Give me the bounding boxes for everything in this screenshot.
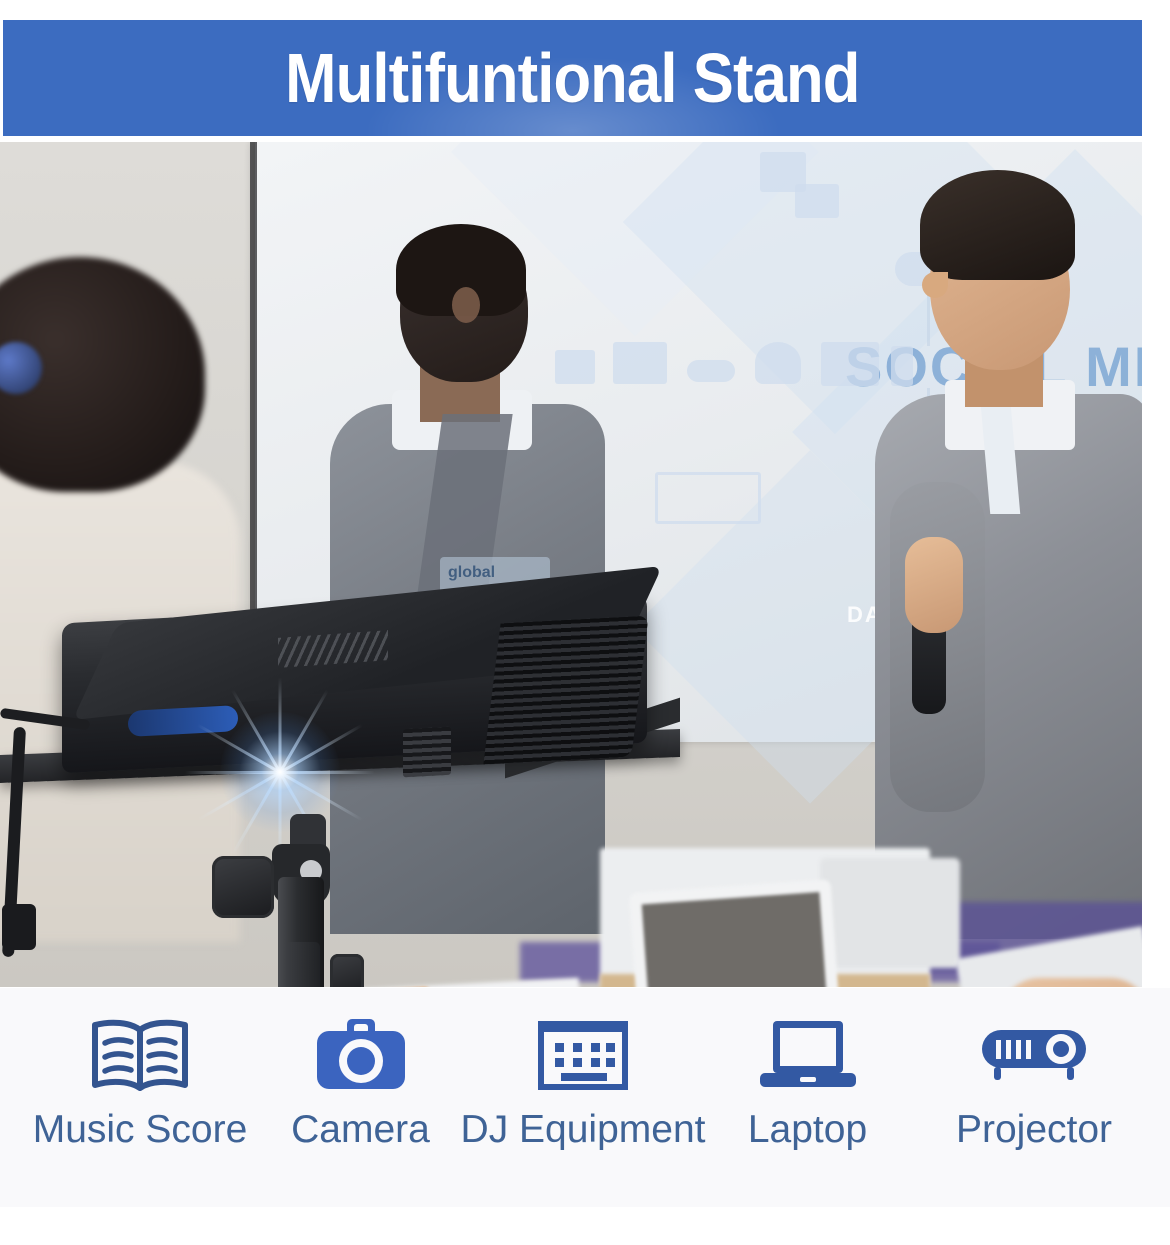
- product-image: Multifuntional Stand SOCIAL MED: [0, 0, 1170, 1245]
- feature-label: Camera: [291, 1110, 430, 1149]
- feature-music-score: Music Score: [40, 1016, 240, 1149]
- slide-icon-mail: [795, 184, 839, 218]
- cable-clip: [2, 904, 36, 950]
- feature-label: Projector: [956, 1110, 1112, 1149]
- header-banner: Multifuntional Stand: [3, 20, 1142, 136]
- product-photo: SOCIAL MED DATA SPEED: [0, 142, 1142, 987]
- slide-icon-user: [755, 342, 801, 384]
- slide-icon-display: [821, 342, 879, 386]
- camera-icon: [313, 1016, 409, 1094]
- feature-label: DJ Equipment: [461, 1110, 706, 1149]
- feature-label: Laptop: [748, 1110, 867, 1149]
- slide-icon-monitor: [613, 342, 667, 384]
- slide-icon-keyboard: [687, 360, 735, 382]
- slide-icon-frame: [655, 472, 761, 524]
- adjustment-knob: [330, 954, 364, 987]
- badge-text: global: [448, 564, 495, 582]
- projector-vent: [483, 616, 648, 765]
- feature-laptop: Laptop: [708, 1016, 908, 1149]
- printer: [820, 858, 960, 968]
- feature-dj-equipment: DJ Equipment: [483, 1016, 683, 1149]
- projector-icon: [978, 1016, 1090, 1094]
- slide-icon-device: [555, 350, 595, 384]
- page-title: Multifuntional Stand: [285, 43, 859, 113]
- laptop: [629, 879, 845, 987]
- projector-vent: [403, 727, 451, 778]
- feature-camera: Camera: [261, 1016, 461, 1149]
- feature-label: Music Score: [33, 1110, 248, 1149]
- feature-strip: Music Score Camera: [0, 988, 1170, 1207]
- slide-icon-phone: [891, 346, 913, 386]
- laptop-icon: [756, 1016, 860, 1094]
- dj-equipment-icon: [533, 1016, 633, 1094]
- feature-projector: Projector: [934, 1016, 1134, 1149]
- music-score-icon: [87, 1016, 193, 1094]
- adjustment-knob: [212, 856, 274, 918]
